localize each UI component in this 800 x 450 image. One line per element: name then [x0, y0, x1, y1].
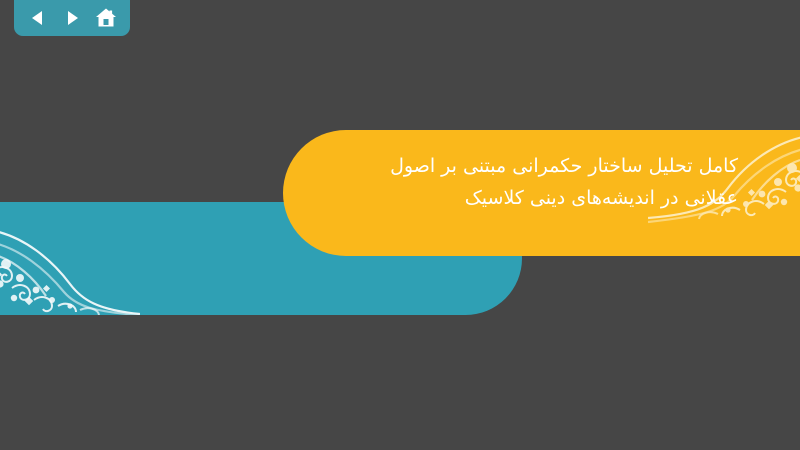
forward-button[interactable] — [59, 5, 85, 31]
home-icon — [94, 6, 118, 30]
home-button[interactable] — [93, 5, 119, 31]
back-button[interactable] — [25, 5, 51, 31]
title-panel: کامل تحلیل ساختار حکمرانی مبتنی بر اصول … — [283, 130, 800, 256]
slide-title: کامل تحلیل ساختار حکمرانی مبتنی بر اصول … — [338, 150, 738, 214]
arabesque-corner-ornament — [0, 202, 140, 315]
triangle-right-icon — [62, 8, 82, 28]
title-line-1: کامل تحلیل ساختار حکمرانی مبتنی بر اصول — [338, 150, 738, 182]
slide-canvas: کامل تحلیل ساختار حکمرانی مبتنی بر اصول … — [0, 0, 800, 450]
navigation-bar — [14, 0, 130, 36]
triangle-left-icon — [28, 8, 48, 28]
title-line-2: عقلانی در اندیشه‌های دینی کلاسیک — [338, 182, 738, 214]
